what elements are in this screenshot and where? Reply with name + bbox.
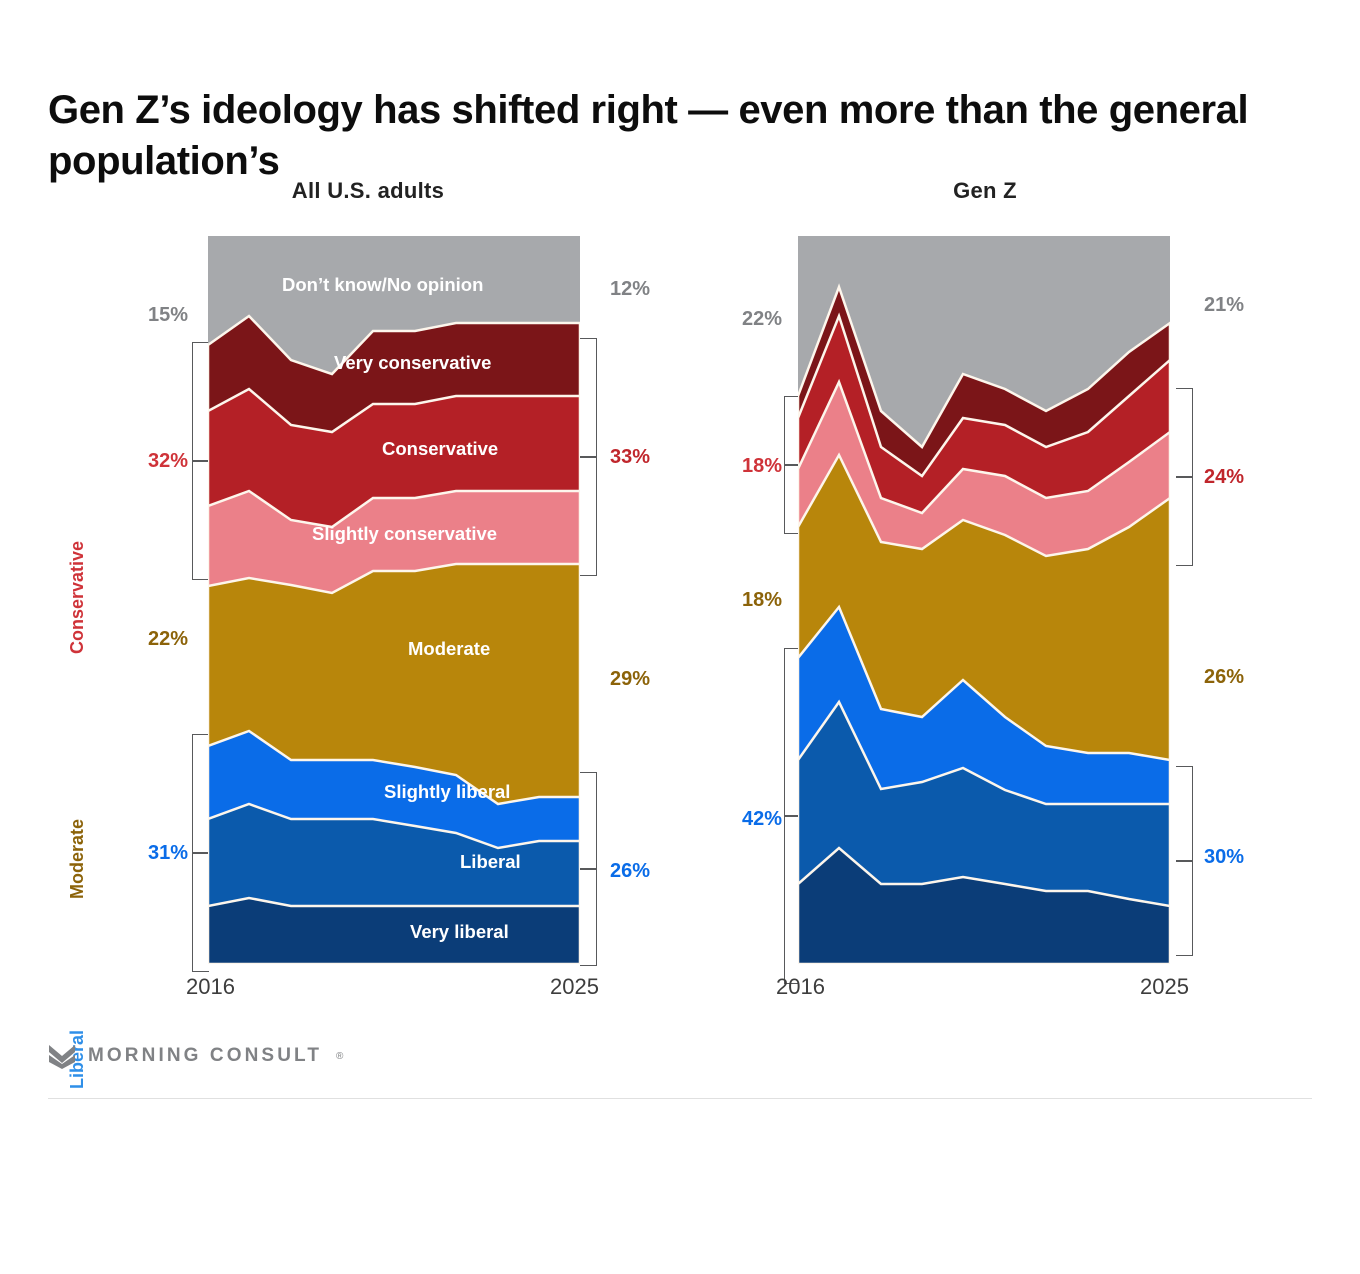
right-pct-liberal-genz: 30% [1204, 846, 1304, 869]
xaxis-start-year-genz: 2016 [776, 974, 825, 1000]
morning-consult-logo: MORNING CONSULT ® [48, 1042, 343, 1070]
bracket-conservative-left-genz-lower [784, 464, 799, 534]
left-pct-conservative-genz: 18% [692, 455, 782, 478]
bracket-conservative-right-genz [1176, 388, 1193, 478]
morning-consult-chevron-mark [48, 1042, 76, 1070]
band-very-liberal-all [208, 898, 580, 964]
bracket-conservative-right-all [580, 338, 597, 458]
areachart-all-us-adults: Don’t know/No opinion Very conservative … [208, 236, 580, 964]
panel-title-all-us-adults: All U.S. adults [78, 178, 658, 204]
left-pct-dont-know-all: 15% [78, 304, 188, 327]
bracket-liberal-right-all-lower [580, 868, 597, 966]
bracket-liberal-left-all [192, 734, 209, 854]
right-pct-dont-know-all: 12% [610, 278, 720, 301]
left-pct-conservative-all: 32% [78, 450, 188, 473]
xaxis-end-year-all: 2025 [550, 974, 599, 1000]
bracket-liberal-left-genz [784, 648, 799, 817]
trademark-symbol: ® [336, 1051, 343, 1062]
morning-consult-wordmark: MORNING CONSULT [88, 1045, 322, 1067]
charts-container: All U.S. adults Conservative Moderate Li… [0, 178, 1360, 1018]
bracket-conservative-left-all-lower [192, 460, 209, 580]
right-pct-dont-know-genz: 21% [1204, 294, 1304, 317]
bracket-conservative-left-all [192, 342, 209, 462]
left-pct-moderate-all: 22% [78, 628, 188, 651]
left-pct-moderate-genz: 18% [692, 589, 782, 612]
left-pct-liberal-genz: 42% [692, 808, 782, 831]
right-pct-moderate-all: 29% [610, 668, 720, 691]
xaxis-end-year-genz: 2025 [1140, 974, 1189, 1000]
bracket-conservative-left-genz [784, 396, 799, 466]
right-pct-conservative-genz: 24% [1204, 466, 1304, 489]
area-bands-genz [798, 236, 1170, 964]
right-pct-liberal-all: 26% [610, 860, 720, 883]
bracket-liberal-right-genz [1176, 766, 1193, 862]
left-pct-liberal-all: 31% [78, 842, 188, 865]
bracket-liberal-right-genz-lower [1176, 860, 1193, 956]
bracket-conservative-right-genz-lower [1176, 476, 1193, 566]
panel-title-gen-z: Gen Z [700, 178, 1270, 204]
area-bands-all [208, 236, 580, 964]
right-pct-moderate-genz: 26% [1204, 666, 1304, 689]
bracket-liberal-left-all-lower [192, 852, 209, 972]
xaxis-start-year-all: 2016 [186, 974, 235, 1000]
areachart-gen-z [798, 236, 1170, 964]
left-pct-dont-know-genz: 22% [692, 308, 782, 331]
bracket-liberal-right-all [580, 772, 597, 870]
bracket-conservative-right-all-lower [580, 456, 597, 576]
page-title: Gen Z’s ideology has shifted right — eve… [48, 85, 1278, 187]
footer-divider [48, 1098, 1312, 1099]
bracket-liberal-left-genz-lower [784, 815, 799, 984]
